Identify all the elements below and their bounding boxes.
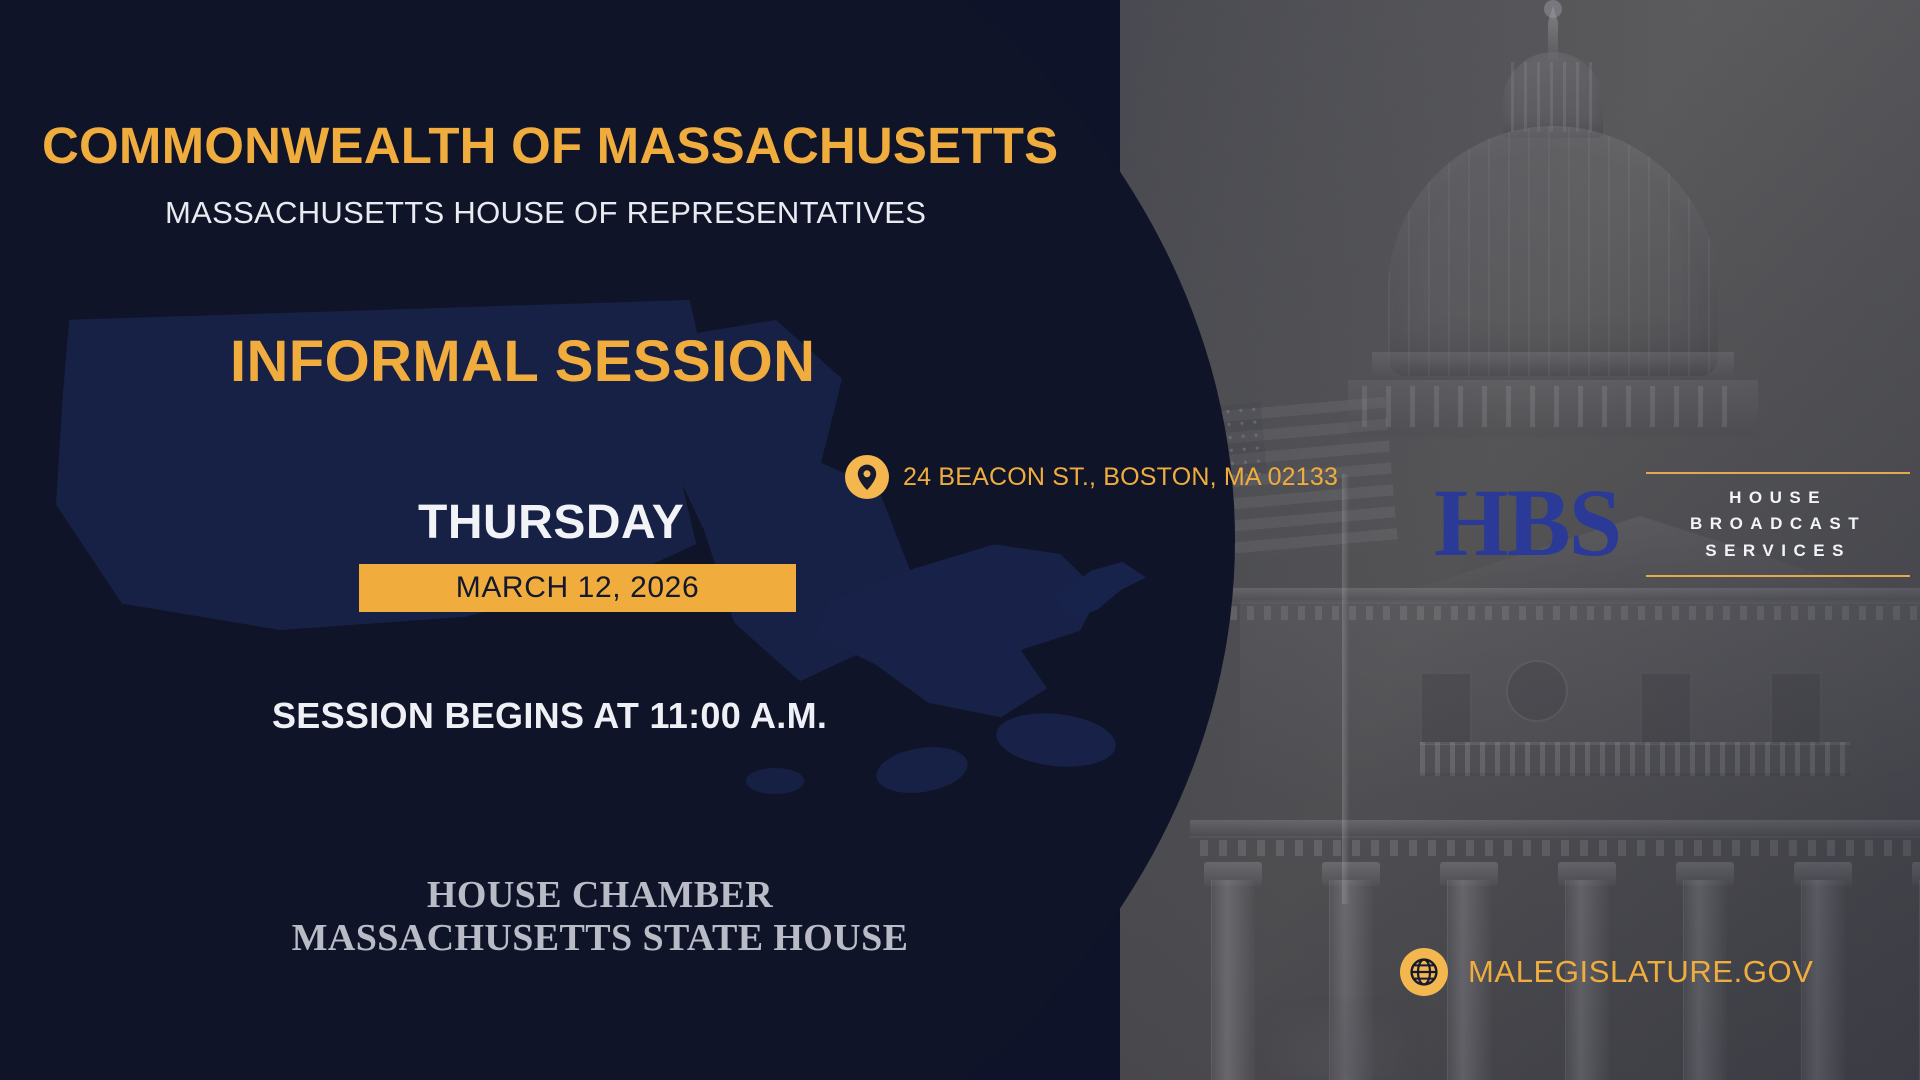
location-pin-icon	[845, 455, 889, 499]
website-url[interactable]: MALEGISLATURE.GOV	[1468, 954, 1814, 990]
session-start-time: SESSION BEGINS AT 11:00 A.M.	[272, 695, 827, 737]
address-text: 24 BEACON ST., BOSTON, MA 02133	[903, 463, 1338, 492]
chamber-subtitle: MASSACHUSETTS HOUSE OF REPRESENTATIVES	[165, 195, 926, 231]
date-text: MARCH 12, 2026	[456, 571, 700, 605]
weekday-label: THURSDAY	[418, 495, 684, 550]
hbs-rule-bottom	[1646, 575, 1910, 577]
venue-block: HOUSE CHAMBER MASSACHUSETTS STATE HOUSE	[0, 874, 1200, 959]
page-title: COMMONWEALTH OF MASSACHUSETTS	[42, 116, 1058, 175]
session-announcement-graphic: COMMONWEALTH OF MASSACHUSETTS MASSACHUSE…	[0, 0, 1920, 1080]
hbs-word-broadcast: BROADCAST	[1646, 511, 1910, 537]
venue-line-2: MASSACHUSETTS STATE HOUSE	[0, 917, 1200, 960]
date-banner: MARCH 12, 2026	[359, 564, 796, 612]
hbs-monogram: HBS	[1434, 479, 1620, 567]
venue-line-1: HOUSE CHAMBER	[0, 874, 1200, 917]
hbs-wordmark: HOUSE BROADCAST SERVICES	[1646, 470, 1910, 577]
website-row[interactable]: MALEGISLATURE.GOV	[1400, 948, 1814, 996]
hbs-logo: HBS HOUSE BROADCAST SERVICES	[1434, 470, 1910, 577]
hbs-word-services: SERVICES	[1646, 538, 1910, 564]
address-row: 24 BEACON ST., BOSTON, MA 02133	[845, 455, 1338, 499]
globe-icon	[1400, 948, 1448, 996]
hbs-word-house: HOUSE	[1646, 485, 1910, 511]
session-type-title: INFORMAL SESSION	[230, 328, 815, 395]
